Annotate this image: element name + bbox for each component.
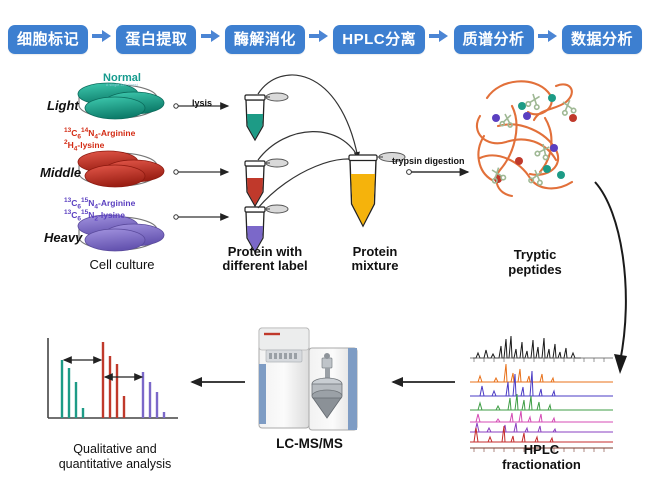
pipeline-step-3[interactable]: HPLC分离 [333, 25, 425, 54]
lysis-label: lysis [192, 99, 212, 109]
lc-ms-ms-caption: LC-MS/MS [262, 437, 357, 452]
lc-ms-ms-instrument [259, 328, 357, 430]
row-label-light: Light [47, 99, 79, 113]
hplc-caption-line1: HPLC [494, 443, 589, 457]
protein-mixture-caption-line2: mixture [330, 259, 420, 273]
trypsin-digestion-arrow [407, 170, 468, 175]
diagram-canvas: 细胞标记 蛋白提取 酶解消化 HPLC分离 质谱分析 数据分析 [0, 0, 650, 481]
hplc-trace-fraction-5 [470, 423, 613, 432]
spectrum-series-heavy [143, 372, 164, 418]
hplc-trace-total [470, 336, 613, 362]
pipeline-step-2[interactable]: 酶解消化 [225, 25, 305, 54]
hplc-trace-fraction-4 [470, 411, 613, 422]
hplc-fractionation-chart [470, 336, 613, 452]
lysis-arrow-middle [174, 170, 228, 174]
workflow-pipeline: 细胞标记 蛋白提取 酶解消化 HPLC分离 质谱分析 数据分析 [0, 16, 650, 62]
tryptic-peptides-caption-line2: peptides [485, 263, 585, 277]
right-arrow-icon [309, 29, 329, 49]
spectrum-series-middle [103, 342, 124, 418]
tryptic-peptides-caption-line1: Tryptic [485, 248, 585, 262]
row-label-heavy: Heavy [44, 231, 82, 245]
right-arrow-icon [201, 29, 221, 49]
analysis-caption-line1: Qualitative and [50, 443, 180, 457]
pipeline-step-1[interactable]: 蛋白提取 [116, 25, 196, 54]
pipeline-step-4[interactable]: 质谱分析 [454, 25, 534, 54]
cell-culture-caption: Cell culture [62, 258, 182, 272]
right-arrow-icon [429, 29, 449, 49]
pipeline-step-0[interactable]: 细胞标记 [8, 25, 88, 54]
petri-dish-middle [78, 151, 164, 187]
hplc-trace-fraction-6 [470, 426, 613, 442]
hplc-trace-fraction-1 [470, 364, 613, 382]
trypsin-digestion-label: trypsin digestion [392, 157, 465, 167]
right-arrow-icon [92, 29, 112, 49]
eppendorf-tube-light [245, 93, 288, 140]
mass-spectrum-chart [48, 338, 178, 418]
hplc-caption-line2: fractionation [479, 458, 604, 472]
spectrum-series-light [62, 360, 83, 418]
protein-label-caption-line2: different label [200, 259, 330, 273]
row-label-middle: Middle [40, 166, 81, 180]
analysis-caption-line2: quantitative analysis [30, 458, 200, 472]
isotope-label-purple-lysine: 13C615N2-lysine [64, 209, 125, 223]
petri-dish-light [78, 83, 164, 119]
right-arrow-icon [538, 29, 558, 49]
tryptic-peptides-graphic [477, 81, 577, 196]
pipeline-step-5[interactable]: 数据分析 [562, 25, 642, 54]
lysis-arrow-heavy [174, 215, 228, 219]
isotope-label-red-lysine: 2H4-lysine [64, 139, 104, 153]
normal-sublabel: A single cell digest [86, 84, 158, 88]
